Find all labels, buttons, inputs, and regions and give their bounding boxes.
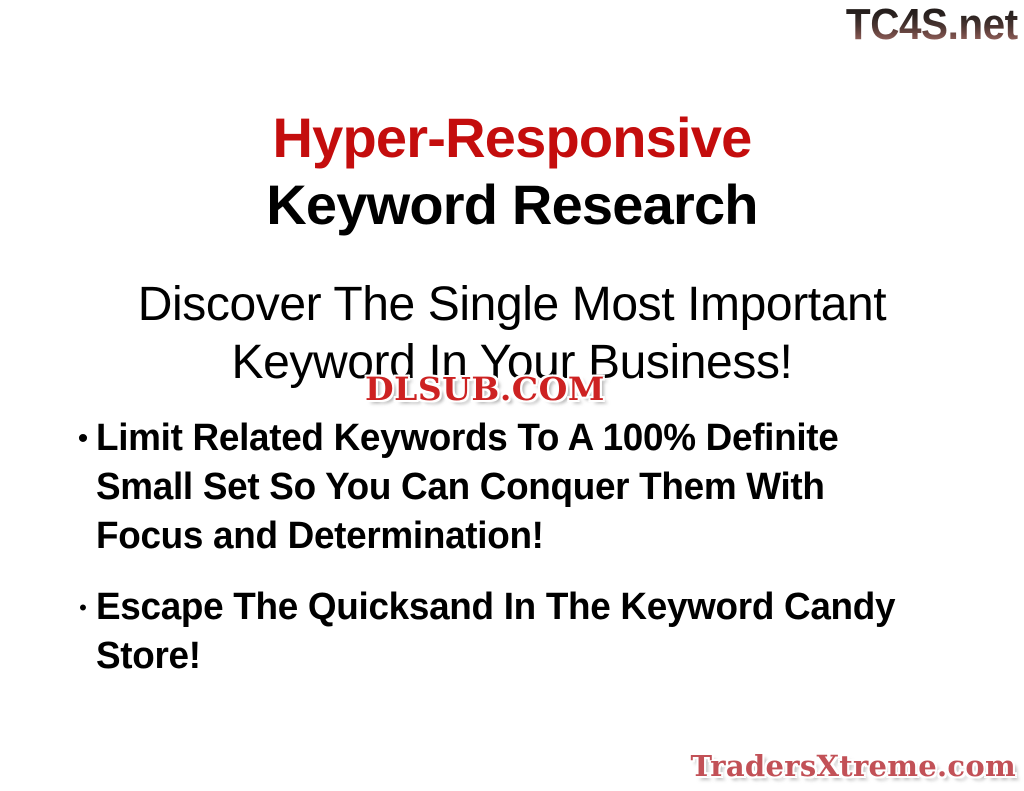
- list-item: • Limit Related Keywords To A 100% Defin…: [70, 414, 950, 561]
- list-item-label: Escape The Quicksand In The Keyword Cand…: [96, 583, 924, 681]
- bullet-list: • Limit Related Keywords To A 100% Defin…: [70, 414, 950, 703]
- list-item: • Escape The Quicksand In The Keyword Ca…: [70, 583, 950, 681]
- list-item-label: Limit Related Keywords To A 100% Definit…: [96, 414, 924, 561]
- presentation-slide: TC4S.net Hyper-Responsive Keyword Resear…: [0, 0, 1024, 791]
- headline-secondary-line: Keyword Research: [0, 171, 1024, 238]
- bullet-dot-icon: •: [70, 414, 96, 463]
- brand-logo-tc4s[interactable]: TC4S.net: [846, 2, 1018, 48]
- site-logo-tradersxtreme[interactable]: TradersXtreme.com: [690, 749, 1016, 783]
- headline-primary-line: Hyper-Responsive: [0, 104, 1024, 171]
- watermark-dlsub: DLSUB.COM: [365, 372, 605, 407]
- page-title: Hyper-Responsive Keyword Research: [0, 104, 1024, 238]
- bullet-dot-icon: •: [70, 583, 96, 632]
